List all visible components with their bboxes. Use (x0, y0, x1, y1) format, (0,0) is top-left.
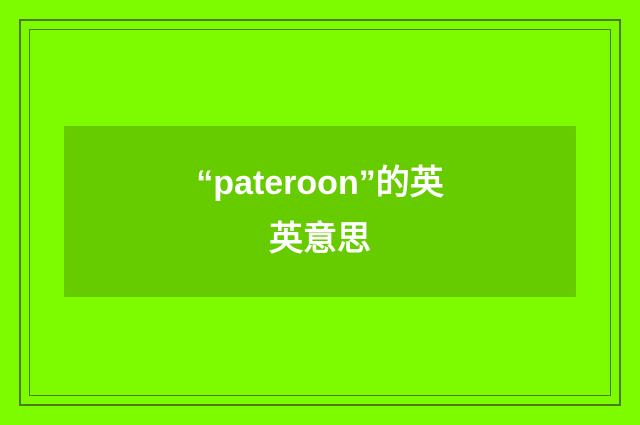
banner-canvas: “pateroon”的英英意思 (0, 0, 640, 425)
headline-text: “pateroon”的英英意思 (185, 156, 455, 266)
content-panel: “pateroon”的英英意思 (64, 126, 576, 297)
